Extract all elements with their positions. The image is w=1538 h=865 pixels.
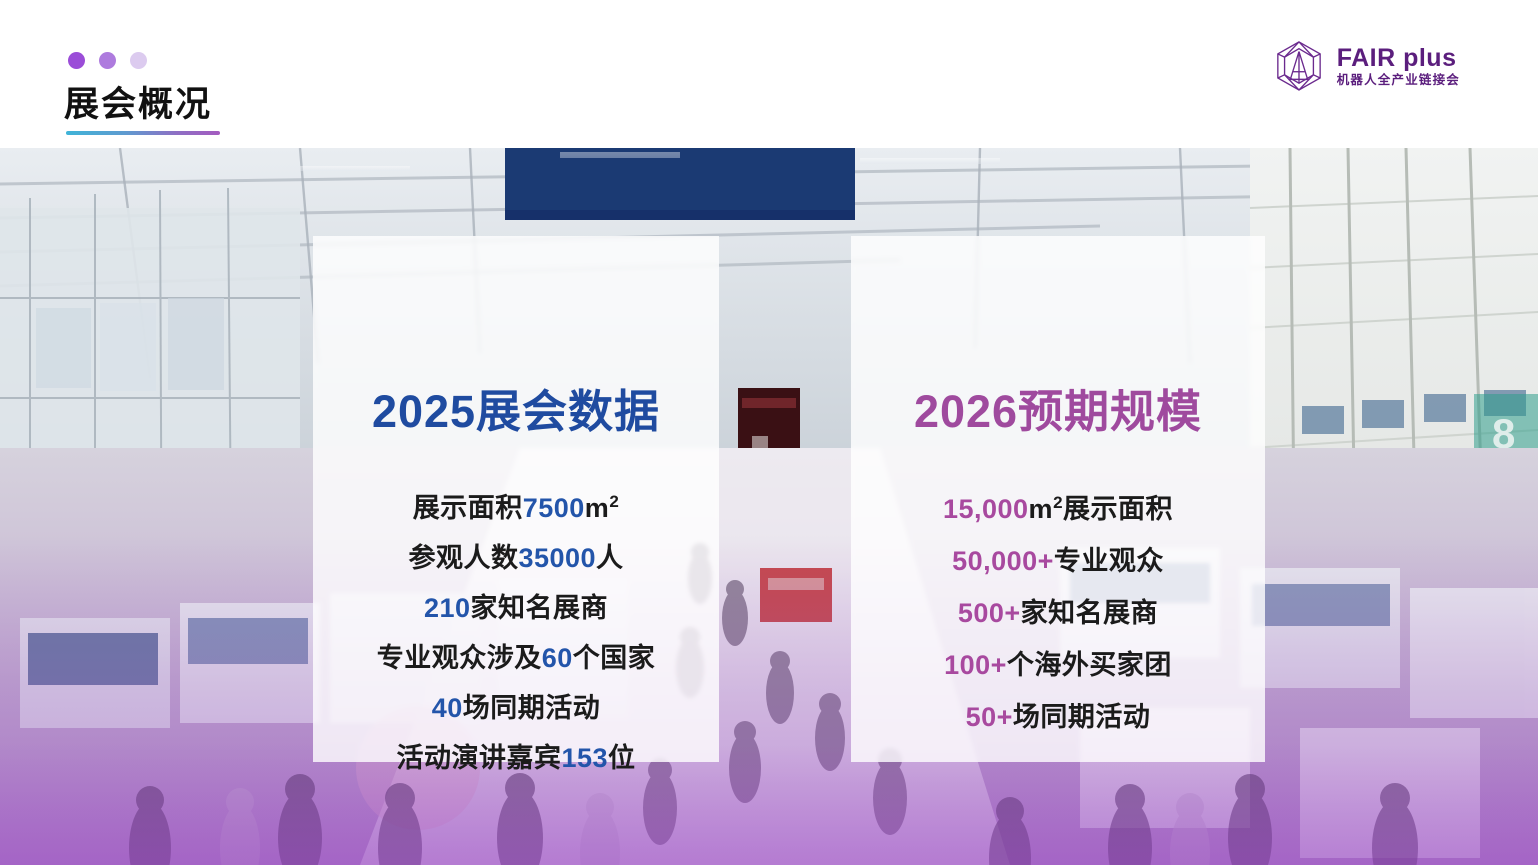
decorative-dots (68, 52, 147, 69)
stat-suffix: 场同期活动 (463, 693, 601, 723)
panel-right-stat-list: 15,000m2展示面积 50,000+专业观众 500+家知名展商 100+个… (851, 483, 1265, 743)
stat-number: 35000 (518, 543, 596, 573)
page-header: 展会概况 FAIR plus 机器人全产业链接会 (0, 0, 1538, 148)
stat-number: 40 (432, 693, 463, 723)
stat-row: 100+个海外买家团 (944, 639, 1172, 691)
stat-suffix: 场同期活动 (1013, 702, 1151, 732)
stat-suffix: 个国家 (573, 643, 656, 673)
stat-row: 50,000+专业观众 (952, 535, 1164, 587)
hexagon-logo-icon (1274, 40, 1324, 92)
stat-suffix: 专业观众 (1054, 546, 1164, 576)
stat-number: 210 (424, 593, 471, 623)
stat-suffix: 家知名展商 (1021, 598, 1159, 628)
stat-suffix: 展示面积 (1063, 494, 1173, 524)
stat-suffix: 人 (596, 543, 624, 573)
logo-name: FAIR plus (1337, 45, 1460, 72)
stat-number: 15,000 (943, 494, 1029, 524)
hero-photo-stage: 8 (0, 148, 1538, 865)
panel-left-title: 2025展会数据 (372, 386, 660, 438)
stat-unit: m (1029, 494, 1054, 524)
stat-number: 153 (561, 743, 608, 773)
stat-prefix: 专业观众涉及 (377, 643, 542, 673)
stat-suffix: 位 (608, 743, 636, 773)
dot-2-icon (99, 52, 116, 69)
stat-row: 展示面积7500m2 (413, 483, 620, 533)
stat-number: 500+ (958, 598, 1021, 628)
dot-1-icon (68, 52, 85, 69)
stat-prefix: 活动演讲嘉宾 (396, 743, 561, 773)
stats-panel-2026: 2026预期规模 15,000m2展示面积 50,000+专业观众 500+家知… (851, 236, 1265, 762)
stat-number: 50+ (966, 702, 1013, 732)
stat-number: 100+ (944, 650, 1007, 680)
page-title: 展会概况 (64, 84, 212, 126)
dot-3-icon (130, 52, 147, 69)
stat-number: 7500 (523, 493, 585, 523)
stat-row: 40场同期活动 (432, 683, 601, 733)
stat-row: 活动演讲嘉宾153位 (396, 733, 635, 783)
stat-prefix: 展示面积 (413, 493, 523, 523)
stat-row: 15,000m2展示面积 (943, 483, 1173, 535)
stat-superscript: 2 (609, 492, 619, 511)
panel-left-stat-list: 展示面积7500m2 参观人数35000人 210家知名展商 专业观众涉及60个… (313, 483, 719, 783)
stat-row: 专业观众涉及60个国家 (377, 633, 656, 683)
logo-text-block: FAIR plus 机器人全产业链接会 (1337, 45, 1460, 88)
exhibition-hall-photo: 8 (0, 148, 1538, 865)
stat-number: 50,000+ (952, 546, 1054, 576)
stat-number: 60 (542, 643, 573, 673)
brand-logo: FAIR plus 机器人全产业链接会 (1274, 40, 1460, 92)
panel-right-title: 2026预期规模 (914, 386, 1202, 438)
stat-unit: m (585, 493, 610, 523)
stat-suffix: 家知名展商 (471, 593, 609, 623)
stat-superscript: 2 (1053, 493, 1063, 512)
stat-row: 500+家知名展商 (958, 587, 1158, 639)
stats-panel-2025: 2025展会数据 展示面积7500m2 参观人数35000人 210家知名展商 … (313, 236, 719, 762)
stat-row: 参观人数35000人 (408, 533, 623, 583)
stat-suffix: 个海外买家团 (1007, 650, 1172, 680)
stat-prefix: 参观人数 (408, 543, 518, 573)
stat-row: 210家知名展商 (424, 583, 608, 633)
stat-row: 50+场同期活动 (966, 691, 1151, 743)
title-underline (66, 131, 220, 135)
logo-subtitle: 机器人全产业链接会 (1337, 73, 1460, 88)
